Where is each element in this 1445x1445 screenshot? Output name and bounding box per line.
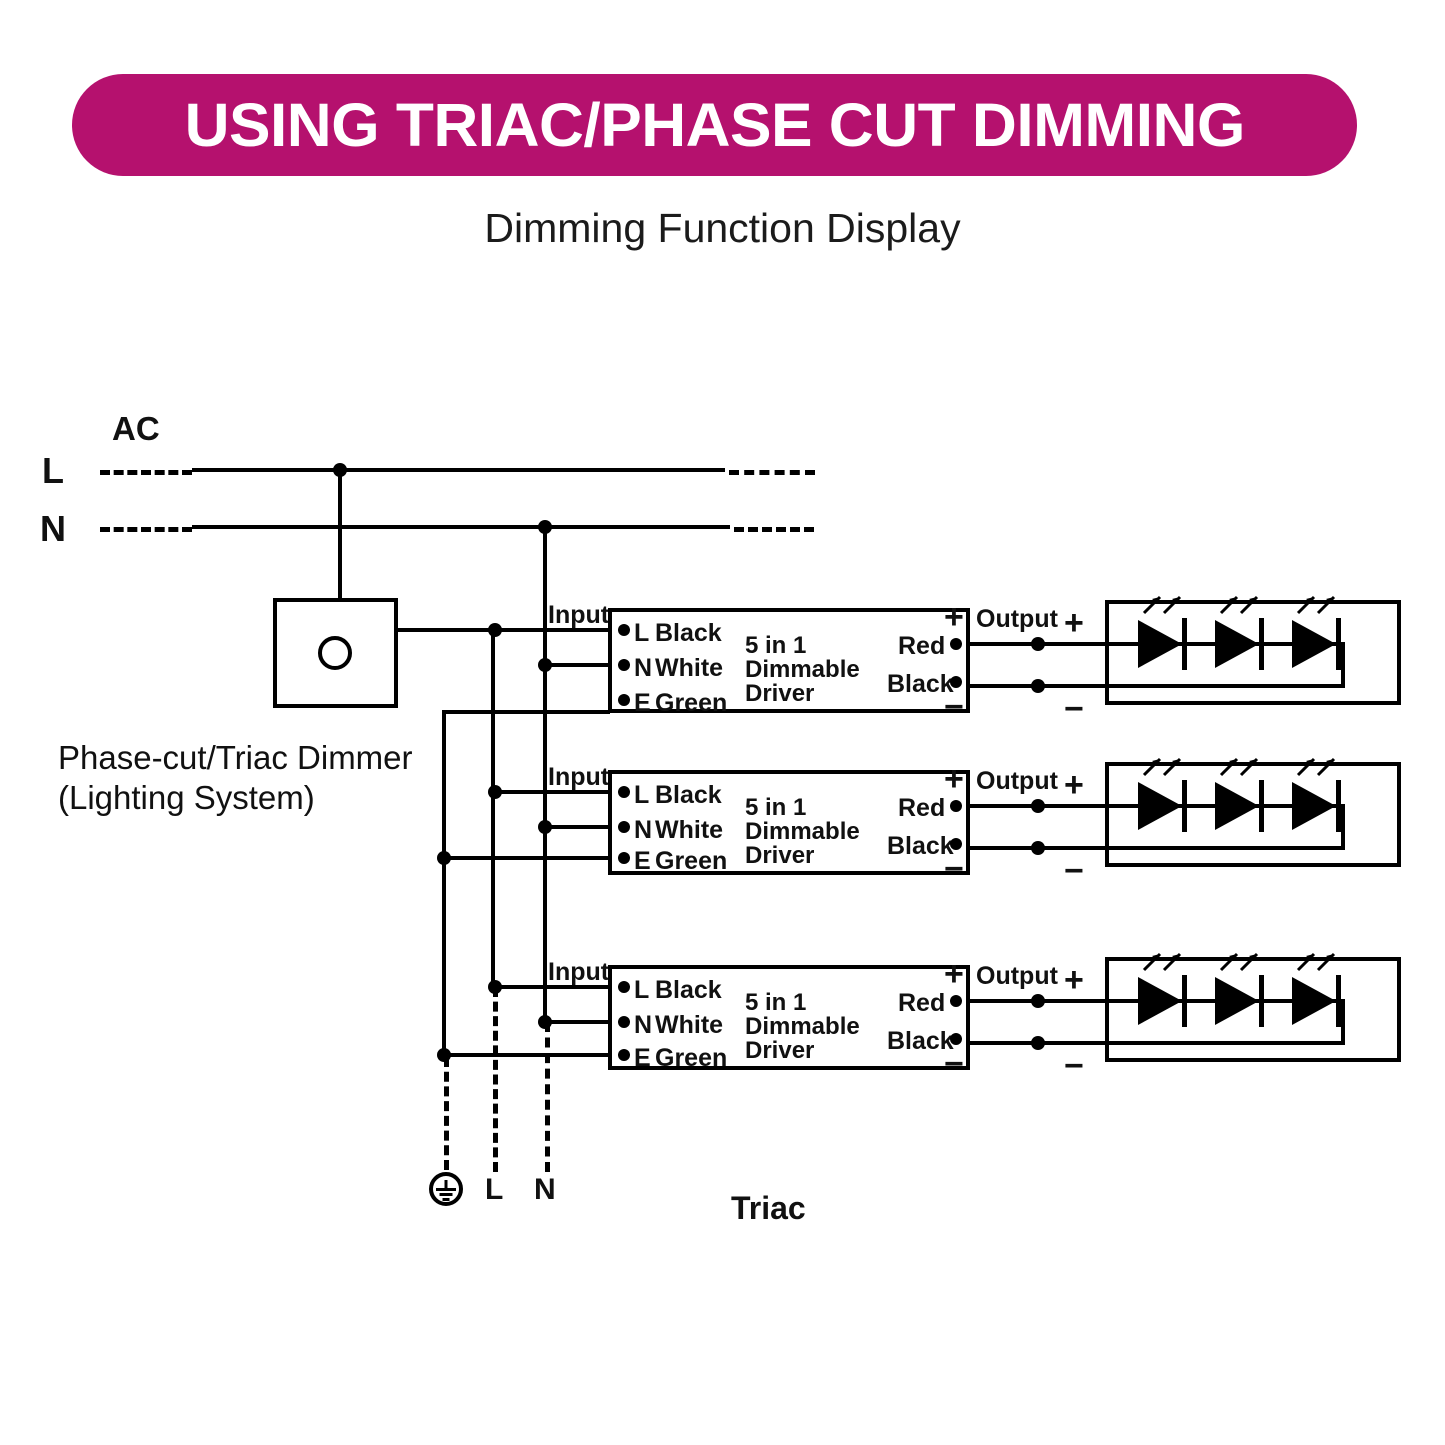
led-emission-arrows-icon — [1294, 591, 1346, 617]
junction-dot-driver3-l — [488, 980, 502, 994]
load2-neg-sign: − — [1064, 852, 1084, 891]
led-symbol-3-3 — [1292, 970, 1366, 1032]
driver3-terminal-E-code: E — [634, 1044, 651, 1073]
driver3-terminal-N-color: White — [655, 1011, 723, 1040]
led3-bottom-wire — [1105, 1041, 1345, 1045]
driver3-e-wire — [444, 1053, 610, 1057]
driver3-terminal-L-color: Black — [655, 976, 722, 1005]
driver1-terminal-E-code: E — [634, 689, 651, 718]
terminal-dot-3-black — [950, 1033, 962, 1045]
led-emission-arrows-icon — [1294, 948, 1346, 974]
led-emission-arrows-icon — [1140, 753, 1192, 779]
footer-label-triac: Triac — [731, 1190, 806, 1227]
driver1-terminal-N-color: White — [655, 654, 723, 683]
junction-dot-driver1-n — [538, 658, 552, 672]
ac-label: AC — [112, 410, 160, 448]
junction-dot-2-out-pos — [1031, 799, 1045, 813]
terminal-dot-1-red — [950, 638, 962, 650]
line-label-L: L — [42, 450, 64, 492]
junction-dot-n-rail — [538, 520, 552, 534]
led1-bottom-wire — [1105, 684, 1345, 688]
dimmer-caption-line2: (Lighting System) — [58, 778, 315, 818]
led-emission-arrows-icon — [1140, 948, 1192, 974]
line-label-N: N — [40, 508, 66, 550]
earth-ground-icon — [429, 1172, 463, 1206]
terminal-dot-2-n — [618, 821, 630, 833]
driver2-out-neg-sign: − — [944, 850, 964, 889]
load3-pos-sign: + — [1064, 961, 1084, 1000]
earth-bus-vertical — [442, 710, 446, 1057]
n-bus-vertical — [543, 525, 547, 1022]
driver3-l-wire — [493, 985, 610, 989]
output-label-1: Output — [976, 605, 1058, 634]
driver2-terminal-L-code: L — [634, 781, 649, 810]
terminal-dot-2-e — [618, 852, 630, 864]
terminal-dot-3-n — [618, 1016, 630, 1028]
driver3-terminal-N-code: N — [634, 1011, 652, 1040]
led-symbol-2-2 — [1215, 775, 1289, 837]
load2-pos-sign: + — [1064, 766, 1084, 805]
driver1-e-wire — [444, 710, 610, 714]
banner-title: USING TRIAC/PHASE CUT DIMMING — [184, 90, 1244, 160]
bottom-bus-label-N: N — [534, 1173, 556, 1207]
driver1-out-pos-label: Red — [898, 632, 945, 661]
junction-dot-driver3-n — [538, 1015, 552, 1029]
led-symbol-2-3 — [1292, 775, 1366, 837]
terminal-dot-2-black — [950, 838, 962, 850]
driver1-body-line3: Driver — [745, 679, 814, 708]
driver2-terminal-N-color: White — [655, 816, 723, 845]
driver1-l-wire — [493, 628, 610, 632]
terminal-dot-3-red — [950, 995, 962, 1007]
led-symbol-1-2 — [1215, 613, 1289, 675]
junction-dot-l-dimmer — [333, 463, 347, 477]
terminal-dot-3-l — [618, 981, 630, 993]
junction-dot-driver2-l — [488, 785, 502, 799]
driver2-l-wire — [493, 790, 610, 794]
l-to-dimmer-wire — [338, 468, 342, 598]
terminal-dot-2-red — [950, 800, 962, 812]
driver2-e-wire — [444, 856, 610, 860]
diagram-canvas: USING TRIAC/PHASE CUT DIMMING Dimming Fu… — [0, 0, 1445, 1445]
driver3-terminal-E-color: Green — [655, 1044, 727, 1073]
led-symbol-2-1 — [1138, 775, 1212, 837]
l-bus-dash-down — [493, 987, 498, 1172]
driver3-body-line3: Driver — [745, 1036, 814, 1065]
driver2-out-pos-sign: + — [944, 760, 964, 799]
terminal-dot-1-black — [950, 676, 962, 688]
junction-dot-driver2-n — [538, 820, 552, 834]
l-rail-solid — [192, 468, 725, 472]
terminal-dot-2-l — [618, 786, 630, 798]
driver1-terminal-L-color: Black — [655, 619, 722, 648]
junction-dot-driver1-l — [488, 623, 502, 637]
driver1-terminal-L-code: L — [634, 619, 649, 648]
n-bus-dash-down — [545, 1022, 550, 1172]
junction-dot-1-out-neg — [1031, 679, 1045, 693]
terminal-dot-3-e — [618, 1049, 630, 1061]
driver3-out-neg-sign: − — [944, 1045, 964, 1084]
driver3-out-pos-sign: + — [944, 955, 964, 994]
page-subtitle: Dimming Function Display — [0, 205, 1445, 252]
junction-dot-3-out-pos — [1031, 994, 1045, 1008]
output-label-2: Output — [976, 767, 1058, 796]
driver1-n-wire — [543, 663, 610, 667]
n-rail-dash-right — [734, 527, 814, 532]
junction-dot-1-out-pos — [1031, 637, 1045, 651]
led-symbol-3-2 — [1215, 970, 1289, 1032]
driver1-out-pos-sign: + — [944, 598, 964, 637]
driver2-body-line3: Driver — [745, 841, 814, 870]
led-symbol-1-1 — [1138, 613, 1212, 675]
page-banner: USING TRIAC/PHASE CUT DIMMING — [72, 74, 1357, 176]
bottom-bus-label-L: L — [485, 1173, 503, 1207]
input-label-2: Input — [548, 763, 609, 792]
n-rail-solid — [192, 525, 730, 529]
l-rail-dash-left — [100, 470, 192, 475]
input-label-1: Input — [548, 601, 609, 630]
n-rail-dash-left — [100, 527, 192, 532]
driver3-n-wire — [543, 1020, 610, 1024]
junction-dot-3-out-neg — [1031, 1036, 1045, 1050]
led-emission-arrows-icon — [1217, 753, 1269, 779]
driver3-terminal-L-code: L — [634, 976, 649, 1005]
load1-pos-sign: + — [1064, 604, 1084, 643]
terminal-dot-1-n — [618, 659, 630, 671]
driver2-terminal-E-color: Green — [655, 847, 727, 876]
l-rail-dash-right — [729, 470, 815, 475]
output-label-3: Output — [976, 962, 1058, 991]
driver2-terminal-E-code: E — [634, 847, 651, 876]
junction-dot-driver2-e — [437, 851, 451, 865]
led-emission-arrows-icon — [1217, 591, 1269, 617]
driver2-out-pos-label: Red — [898, 794, 945, 823]
led-emission-arrows-icon — [1140, 591, 1192, 617]
led-emission-arrows-icon — [1294, 753, 1346, 779]
driver2-terminal-N-code: N — [634, 816, 652, 845]
driver2-terminal-L-color: Black — [655, 781, 722, 810]
terminal-dot-1-l — [618, 624, 630, 636]
dimmer-caption-line1: Phase-cut/Triac Dimmer — [58, 738, 413, 778]
terminal-dot-1-e — [618, 694, 630, 706]
input-label-3: Input — [548, 958, 609, 987]
led2-bottom-wire — [1105, 846, 1345, 850]
driver2-n-wire — [543, 825, 610, 829]
rotary-knob-icon[interactable] — [318, 636, 352, 670]
l-bus-vertical — [491, 628, 495, 987]
driver3-out-pos-label: Red — [898, 989, 945, 1018]
load3-neg-sign: − — [1064, 1047, 1084, 1086]
led-symbol-1-3 — [1292, 613, 1366, 675]
earth-bus-dash-down — [444, 1057, 449, 1170]
junction-dot-driver3-e — [437, 1048, 451, 1062]
led-emission-arrows-icon — [1217, 948, 1269, 974]
load1-neg-sign: − — [1064, 690, 1084, 729]
led-symbol-3-1 — [1138, 970, 1212, 1032]
driver1-terminal-E-color: Green — [655, 689, 727, 718]
junction-dot-2-out-neg — [1031, 841, 1045, 855]
driver1-out-neg-sign: − — [944, 688, 964, 727]
driver1-terminal-N-code: N — [634, 654, 652, 683]
